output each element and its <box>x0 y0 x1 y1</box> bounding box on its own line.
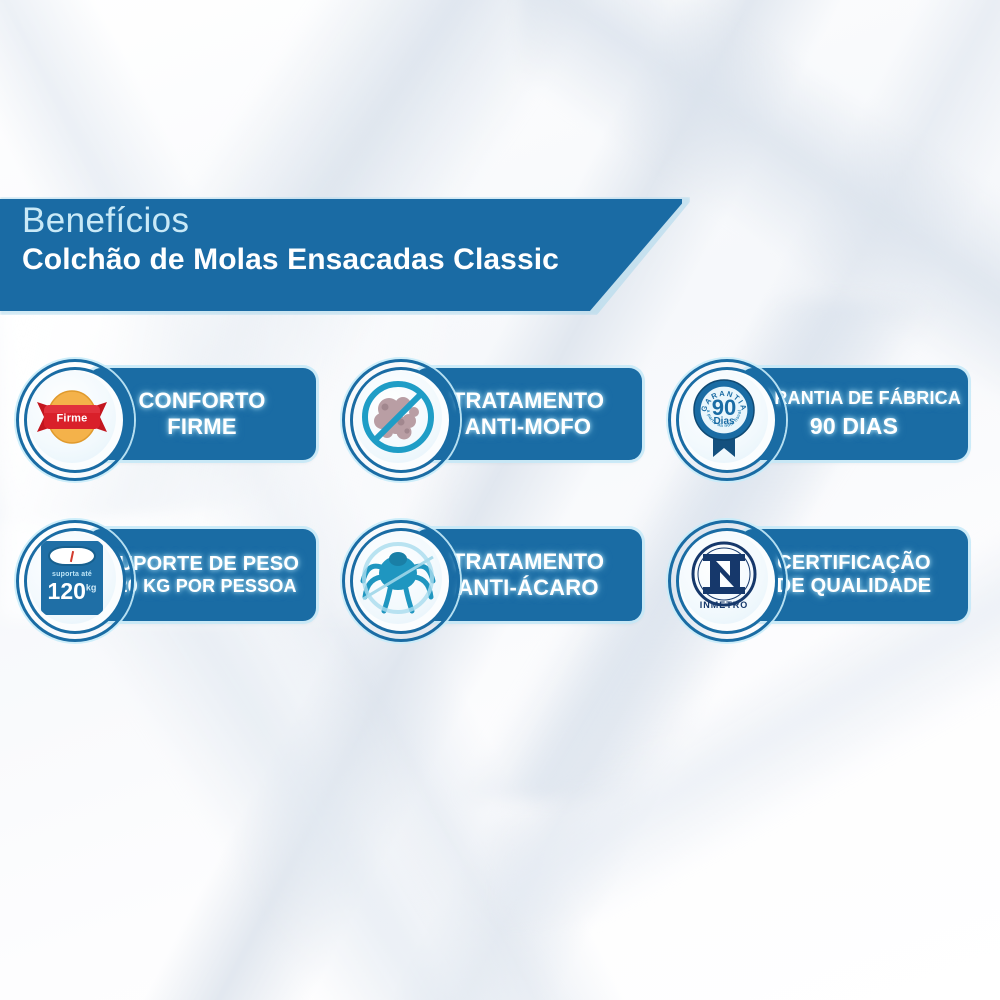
scale-caption: suporta até <box>52 571 92 578</box>
benefit-line-2: ANTI-MOFO <box>465 414 591 440</box>
inmetro-wordmark: INMETRO <box>700 600 749 610</box>
no-dust-mite-icon <box>354 532 442 624</box>
benefits-infographic: Benefícios Colchão de Molas Ensacadas Cl… <box>0 0 1000 1000</box>
benefit-icon-disc <box>340 516 456 640</box>
scale-value: 120kg <box>48 580 97 603</box>
benefit-line-1: TRATAMENTO <box>452 549 604 575</box>
no-mold-icon <box>354 371 442 463</box>
benefit-card-certificacao[interactable]: CERTIFICAÇÃO DE QUALIDADE INMETRO <box>652 516 978 641</box>
benefit-icon-disc: GARANTIA a partir da nota fiscal 90 Dias <box>666 355 782 479</box>
benefit-card-conforto-firme[interactable]: CONFORTO FIRME Firme <box>0 355 326 480</box>
benefit-card-anti-mofo[interactable]: TRATAMENTO ANTI-MOFO <box>326 355 652 480</box>
seal-unit: Dias <box>713 416 735 427</box>
firme-seal-icon: Firme <box>28 371 116 463</box>
benefit-line-2: ANTI-ÁCARO <box>457 575 598 601</box>
benefit-card-suporte-peso[interactable]: SUPORTE DE PESO 120 KG POR PESSOA suport… <box>0 516 326 641</box>
benefit-line-1: CERTIFICAÇÃO <box>777 552 931 575</box>
warranty-seal-graphic: GARANTIA a partir da nota fiscal 90 Dias <box>684 374 764 460</box>
scale-dial <box>48 546 96 566</box>
benefit-icon-disc: suporta até 120kg <box>14 516 130 640</box>
header-text-group: Benefícios Colchão de Molas Ensacadas Cl… <box>22 203 559 275</box>
benefit-icon-disc: Firme <box>14 355 130 479</box>
benefit-line-1: SUPORTE DE PESO <box>105 553 299 576</box>
benefit-line-2: 90 DIAS <box>810 413 898 440</box>
benefit-line-1: TRATAMENTO <box>452 388 604 414</box>
benefits-grid: CONFORTO FIRME Firme <box>0 355 1000 641</box>
benefit-icon-disc: INMETRO <box>666 516 782 640</box>
firme-icon-text: Firme <box>57 413 88 425</box>
warranty-seal-icon: GARANTIA a partir da nota fiscal 90 Dias <box>680 371 768 463</box>
benefit-line-2: DE QUALIDADE <box>777 575 932 598</box>
benefits-row-1: CONFORTO FIRME Firme <box>0 355 1000 480</box>
benefit-icon-disc <box>340 355 456 479</box>
benefits-row-2: SUPORTE DE PESO 120 KG POR PESSOA suport… <box>0 516 1000 641</box>
scale-graphic: suporta até 120kg <box>41 541 103 615</box>
benefit-line-1: CONFORTO <box>138 388 265 414</box>
benefit-line-2: 120 KG POR PESSOA <box>107 576 296 597</box>
page-eyebrow: Benefícios <box>22 203 559 238</box>
weight-scale-icon: suporta até 120kg <box>28 532 116 624</box>
inmetro-logo-icon: INMETRO <box>680 532 768 624</box>
benefit-line-2: FIRME <box>167 414 236 440</box>
benefit-card-garantia[interactable]: GARANTIA DE FÁBRICA 90 DIAS <box>652 355 978 480</box>
benefit-card-anti-acaro[interactable]: TRATAMENTO ANTI-ÁCARO <box>326 516 652 641</box>
scale-unit: kg <box>86 582 97 592</box>
page-title: Colchão de Molas Ensacadas Classic <box>22 245 559 275</box>
